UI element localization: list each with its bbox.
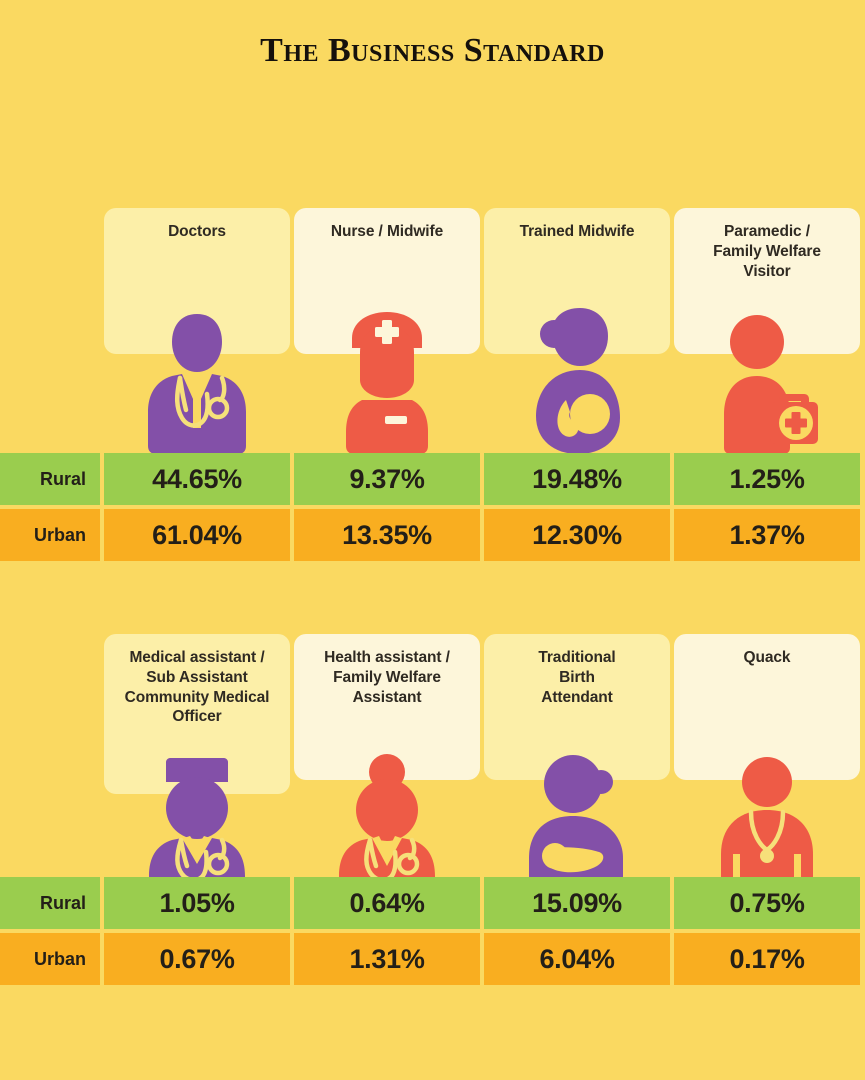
value-cell: 0.67% [104, 933, 290, 985]
row-label-rural: Rural [0, 877, 100, 929]
table-row: Rural 1.05% 0.64% 15.09% 0.75% [0, 877, 865, 929]
value-cell: 1.37% [674, 509, 860, 561]
value-cell: 1.31% [294, 933, 480, 985]
value-cell: 0.75% [674, 877, 860, 929]
value-cell: 15.09% [484, 877, 670, 929]
medical-assistant-icon [104, 742, 290, 892]
card-title: Paramedic / Family Welfare Visitor [684, 222, 850, 281]
card-strip-2: Medical assistant / Sub Assistant Commun… [104, 634, 865, 882]
card-doctors[interactable]: Doctors [104, 208, 290, 354]
value-cell: 1.25% [674, 453, 860, 505]
card-nurse-midwife[interactable]: Nurse / Midwife [294, 208, 480, 354]
data-rows-1: Rural 44.65% 9.37% 19.48% 1.25% Urban 61… [0, 453, 865, 561]
card-quack[interactable]: Quack [674, 634, 860, 780]
value-cell: 1.05% [104, 877, 290, 929]
value-cell: 9.37% [294, 453, 480, 505]
health-assistant-icon [294, 742, 480, 892]
paramedic-icon [674, 304, 860, 454]
row-label-rural: Rural [0, 453, 100, 505]
masthead: The Business Standard [0, 34, 865, 68]
doctor-icon [104, 304, 290, 454]
value-cell: 44.65% [104, 453, 290, 505]
value-cell: 12.30% [484, 509, 670, 561]
card-health-assistant[interactable]: Health assistant / Family Welfare Assist… [294, 634, 480, 780]
table-row: Rural 44.65% 9.37% 19.48% 1.25% [0, 453, 865, 505]
card-paramedic[interactable]: Paramedic / Family Welfare Visitor [674, 208, 860, 354]
nurse-icon [294, 304, 480, 454]
card-title: Health assistant / Family Welfare Assist… [304, 648, 470, 707]
card-title: Quack [684, 648, 850, 668]
card-title: Medical assistant / Sub Assistant Commun… [114, 648, 280, 727]
card-strip-1: Doctors [104, 208, 865, 458]
card-trained-midwife[interactable]: Trained Midwife [484, 208, 670, 354]
card-title: Doctors [114, 222, 280, 242]
value-cell: 19.48% [484, 453, 670, 505]
card-birth-attendant[interactable]: Traditional Birth Attendant [484, 634, 670, 780]
midwife-icon [484, 304, 670, 454]
page-title: The Business Standard [0, 34, 865, 68]
value-cell: 6.04% [484, 933, 670, 985]
row-label-urban: Urban [0, 509, 100, 561]
category-block-2: Medical assistant / Sub Assistant Commun… [0, 634, 865, 882]
card-medical-assistant[interactable]: Medical assistant / Sub Assistant Commun… [104, 634, 290, 794]
quack-icon [674, 742, 860, 892]
value-cell: 13.35% [294, 509, 480, 561]
card-title: Trained Midwife [494, 222, 660, 242]
table-row: Urban 0.67% 1.31% 6.04% 0.17% [0, 933, 865, 985]
value-cell: 61.04% [104, 509, 290, 561]
card-title: Nurse / Midwife [304, 222, 470, 242]
data-rows-2: Rural 1.05% 0.64% 15.09% 0.75% Urban 0.6… [0, 877, 865, 985]
birth-attendant-icon [484, 742, 670, 892]
infographic-page: The Business Standard Doctors [0, 0, 865, 1080]
table-row: Urban 61.04% 13.35% 12.30% 1.37% [0, 509, 865, 561]
category-block-1: Doctors [0, 208, 865, 458]
value-cell: 0.64% [294, 877, 480, 929]
row-label-urban: Urban [0, 933, 100, 985]
value-cell: 0.17% [674, 933, 860, 985]
card-title: Traditional Birth Attendant [494, 648, 660, 707]
